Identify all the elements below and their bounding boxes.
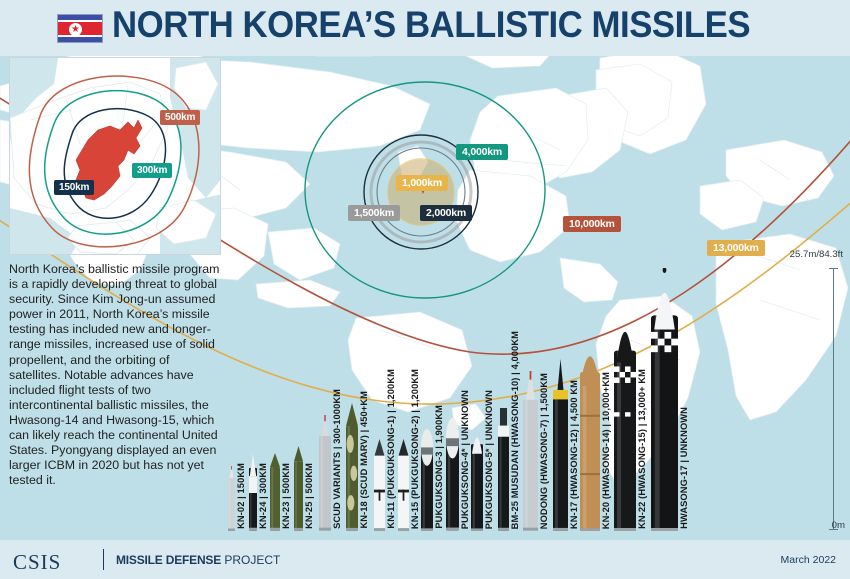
missile-label-nodong: NODONG (HWASONG-7) | 1,500KM [539, 373, 549, 529]
missile-kn-17 [553, 359, 568, 531]
missile-label-kn-17: KN-17 (HWASONG-12) | 4,500 KM [569, 380, 579, 529]
inset-range-300km: 300km [132, 163, 172, 178]
missile-label-bm-25-musudan: BM-25 MUSUDAN (HWASONG-10) | 4,000KM [510, 331, 520, 529]
missile-kn-23 [270, 453, 280, 531]
missile-kn-20 [580, 337, 600, 531]
missile-label-kn-23: KN-23 | 500KM [281, 463, 291, 529]
page-title: NORTH KOREA’S BALLISTIC MISSILES [112, 4, 750, 46]
mdp-bold-text: MISSILE DEFENSE [116, 553, 221, 567]
missile-label-kn-15: KN-15 (PUKGUKSONG-2) | 1,200KM [410, 369, 420, 529]
missile-label-kn-24: KN-24 | 300KM [258, 463, 268, 529]
header-bar: ★ NORTH KOREA’S BALLISTIC MISSILES [0, 0, 850, 56]
scale-tick-top [829, 268, 838, 269]
missile-defense-project-label: MISSILE DEFENSE PROJECT [116, 553, 280, 567]
description-paragraph: North Korea’s ballistic missile program … [9, 262, 221, 488]
missile-kn-22 [614, 311, 636, 531]
missile-pukguksong-4 [446, 418, 459, 531]
publication-date: March 2022 [781, 554, 836, 566]
missile-hwasong-17 [651, 268, 678, 531]
missile-label-kn-11: KN-11 (PUKGUKSONG-1) | 1,200KM [386, 369, 396, 529]
korea-range-inset-map: 500km 300km 150km [9, 57, 221, 255]
missile-label-kn-25: KN-25 | 500KM [304, 463, 314, 529]
csis-logo: CSIS [13, 550, 61, 575]
footer-bar: CSIS MISSILE DEFENSE PROJECT March 2022 [0, 540, 850, 579]
inset-range-500km: 500km [160, 110, 200, 125]
missile-pukguksong-5 [471, 425, 483, 531]
scale-max-label: 25.7m/84.3ft [790, 249, 843, 260]
missile-label-scud-variants: SCUD VARIANTS | 300-1000KM [332, 389, 342, 529]
description-text: North Korea’s ballistic missile program … [9, 262, 221, 488]
missile-kn-18 [346, 403, 358, 531]
missile-scud-variants [319, 415, 331, 531]
missile-label-pukguksong-4: PUKGUKSONG-4* | UNKNOWN [460, 390, 470, 529]
missile-label-kn-20: KN-20 (HWASONG-14) | 10,000+KM [601, 372, 611, 529]
missile-kn-25 [294, 446, 303, 531]
missile-label-kn-22: KN-22 (HWASONG-15) | 13,000+ KM [637, 369, 647, 529]
inset-range-150km: 150km [54, 180, 94, 195]
missile-label-pukguksong-5: PUKGUKSONG-5* | UNKNOWN [484, 390, 494, 529]
missile-kn-11 [374, 439, 385, 531]
missile-kn-02 [228, 466, 235, 531]
missile-pukguksong-3 [421, 429, 433, 531]
missile-bm-25-musudan [498, 408, 509, 531]
scale-zero-label: 0m [832, 520, 845, 531]
north-korea-flag-icon: ★ [57, 14, 103, 43]
missile-label-pukguksong-3: PUKGUKSONG-3 | 1,900KM [434, 405, 444, 529]
height-scale-axis [833, 268, 834, 530]
missile-nodong [523, 371, 538, 531]
missile-label-kn-18: KN-18 (SCUD MARV) | 450+KM [359, 391, 369, 529]
mdp-light-text: PROJECT [221, 553, 280, 567]
missile-kn-24 [249, 454, 257, 531]
missile-label-hwasong-17: HWASONG-17 | UNKNOWN [679, 407, 689, 529]
missile-kn-15 [398, 439, 409, 531]
footer-divider [103, 549, 104, 570]
missile-label-kn-02: KN-02 | 150KM [236, 463, 246, 529]
